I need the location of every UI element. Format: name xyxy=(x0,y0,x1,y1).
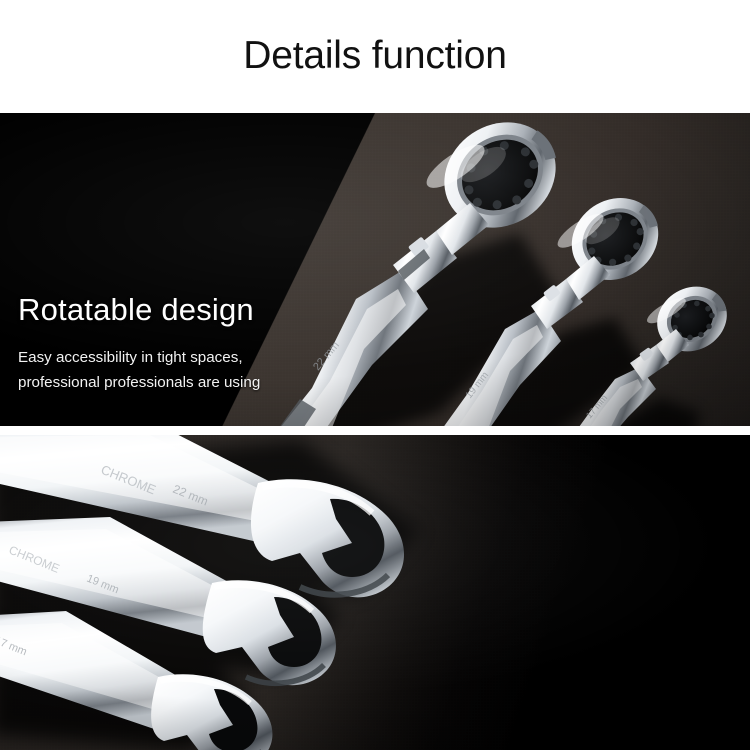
product-detail-page: Details function xyxy=(0,0,750,750)
rotatable-design-body: Easy accessibility in tight spaces, prof… xyxy=(18,345,294,395)
page-title: Details function xyxy=(0,32,750,80)
rotatable-design-heading: Rotatable design xyxy=(18,291,254,329)
header-band: Details function xyxy=(0,0,750,113)
panel-divider xyxy=(0,426,750,435)
panel-rotatable-design: 22 mm xyxy=(0,113,750,426)
photo-vignette-2 xyxy=(0,435,750,750)
panel-patent-driven-design: CHROME 22 mm CHROME 19 mm xyxy=(0,435,750,750)
